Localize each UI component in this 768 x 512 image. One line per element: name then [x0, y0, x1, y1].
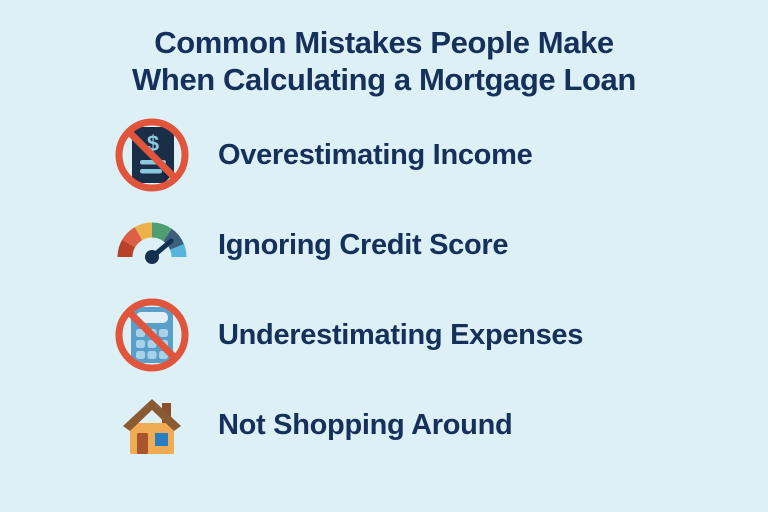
list-item-label: Underestimating Expenses	[218, 319, 583, 352]
no-calculator-glyph	[112, 295, 192, 375]
list-item: Not Shopping Around	[0, 380, 768, 470]
house-glyph	[112, 385, 192, 465]
title-line-1: Common Mistakes People Make	[0, 24, 768, 61]
list-item-label: Not Shopping Around	[218, 409, 512, 442]
list-item: Underestimating Expenses	[0, 290, 768, 380]
list-item: Ignoring Credit Score	[0, 200, 768, 290]
no-income-document-icon: $	[112, 115, 192, 195]
house-icon	[112, 385, 192, 465]
infographic-canvas: Common Mistakes People Make When Calcula…	[0, 0, 768, 512]
credit-score-gauge-glyph	[112, 205, 192, 285]
title-line-2: When Calculating a Mortgage Loan	[0, 61, 768, 98]
mistakes-list: $ Overestimating Income	[0, 110, 768, 470]
no-calculator-icon	[112, 295, 192, 375]
no-income-document-glyph: $	[112, 115, 192, 195]
list-item: $ Overestimating Income	[0, 110, 768, 200]
credit-score-gauge-icon	[112, 205, 192, 285]
list-item-label: Overestimating Income	[218, 139, 532, 172]
page-title: Common Mistakes People Make When Calcula…	[0, 24, 768, 98]
list-item-label: Ignoring Credit Score	[218, 229, 508, 262]
